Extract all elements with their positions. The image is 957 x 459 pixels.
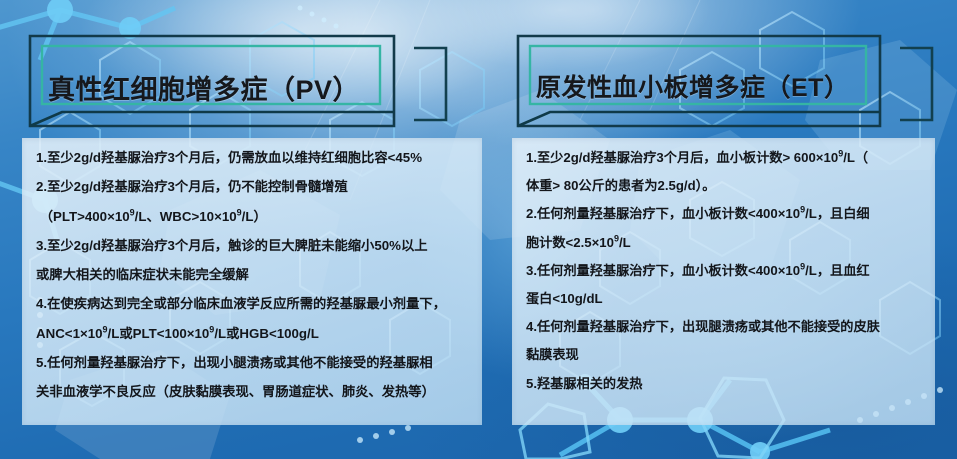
criteria-line: 胞计数<2.5×109/L [526,236,919,249]
panel-body-pv: 1.至少2g/d羟基脲治疗3个月后，仍需放血以维持红细胞比容<45%2.至少2g… [22,138,482,425]
criteria-line: 黏膜表现 [526,348,919,361]
criteria-line: 3.任何剂量羟基脲治疗下，血小板计数<400×109/L，且血红 [526,264,919,277]
panel-title-pv: 真性红细胞增多症（PV） [48,68,360,107]
criteria-line: 2.任何剂量羟基脲治疗下，血小板计数<400×109/L，且白细 [526,207,919,220]
criteria-line: 5.任何剂量羟基脲治疗下，出现小腿溃疡或其他不能接受的羟基脲相 [36,356,466,369]
criteria-line: （PLT>400×109/L、WBC>10×109/L） [36,210,466,223]
panel-body-et: 1.至少2g/d羟基脲治疗3个月后，血小板计数> 600×109/L（体重> 8… [512,138,935,425]
criteria-line: 4.任何剂量羟基脲治疗下，出现腿溃疡或其他不能接受的皮肤 [526,320,919,333]
panel-pv: 真性红细胞增多症（PV） 1.至少2g/d羟基脲治疗3个月后，仍需放血以维持红细… [22,28,482,425]
criteria-line: 1.至少2g/d羟基脲治疗3个月后，血小板计数> 600×109/L（ [526,151,919,164]
panel-title-et: 原发性血小板增多症（ET） [536,68,849,104]
panel-et: 原发性血小板增多症（ET） 1.至少2g/d羟基脲治疗3个月后，血小板计数> 6… [512,28,935,425]
criteria-line: 体重> 80公斤的患者为2.5g/d）。 [526,179,919,192]
criteria-list-et: 1.至少2g/d羟基脲治疗3个月后，血小板计数> 600×109/L（体重> 8… [512,138,935,390]
criteria-line: 蛋白<10g/dL [526,292,919,305]
criteria-line: 2.至少2g/d羟基脲治疗3个月后，仍不能控制骨髓增殖 [36,180,466,193]
criteria-line: ANC<1×109/L或PLT<100×109/L或HGB<100g/L [36,327,466,340]
criteria-line: 1.至少2g/d羟基脲治疗3个月后，仍需放血以维持红细胞比容<45% [36,151,466,164]
criteria-line: 5.羟基脲相关的发热 [526,377,919,390]
criteria-line: 4.在使疾病达到完全或部分临床血液学反应所需的羟基脲最小剂量下， [36,297,466,310]
criteria-list-pv: 1.至少2g/d羟基脲治疗3个月后，仍需放血以维持红细胞比容<45%2.至少2g… [22,138,482,399]
criteria-line: 或脾大相关的临床症状未能完全缓解 [36,268,466,281]
criteria-line: 关非血液学不良反应（皮肤黏膜表现、胃肠道症状、肺炎、发热等） [36,385,466,398]
criteria-line: 3.至少2g/d羟基脲治疗3个月后，触诊的巨大脾脏未能缩小50%以上 [36,239,466,252]
